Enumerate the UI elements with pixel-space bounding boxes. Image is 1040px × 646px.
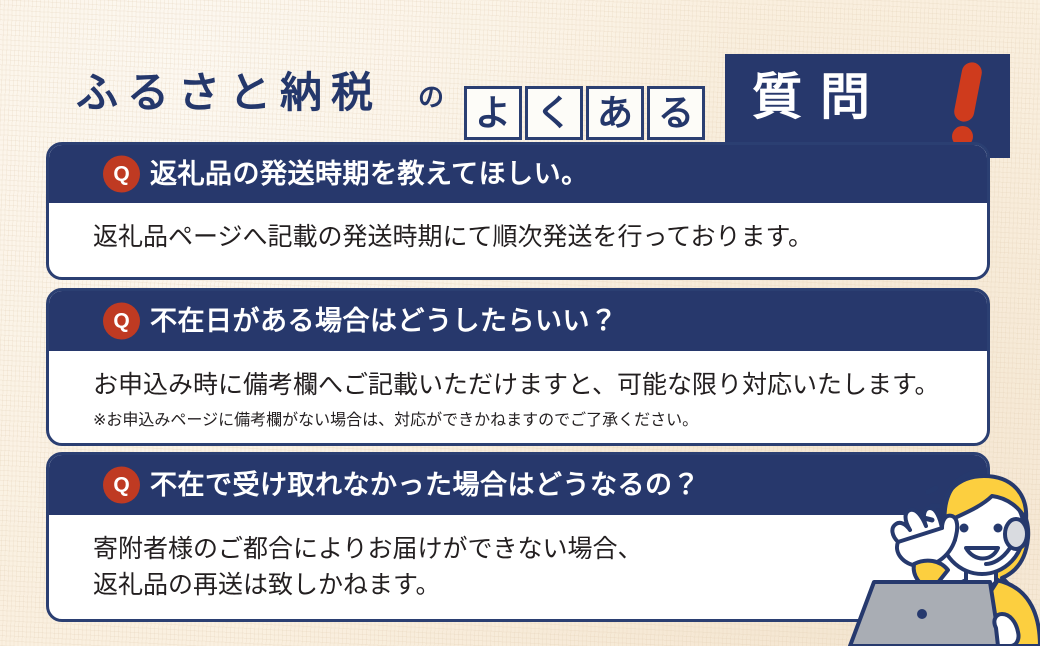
headline: ふるさと納税 の よ く あ る 質問 [0,26,1040,131]
faq-question-text: 不在で受け取れなかった場合はどうなるの？ [150,472,700,499]
headline-plate-word: 質問 [752,72,888,122]
boxed-char-2: く [525,86,583,140]
boxed-char-1: よ [464,86,522,140]
faq-question-header: Q 不在で受け取れなかった場合はどうなるの？ [49,455,987,515]
headline-particle: の [418,84,444,110]
faq-answer-note: ※お申込みページに備考欄がない場合は、対応ができかねますのでご了承ください。 [93,409,987,433]
exclamation-mark-icon [950,62,996,154]
faq-answer-line: 寄附者様のご都合によりお届けができない場合、 [93,532,987,568]
faq-question-text: 返礼品の発送時期を教えてほしい。 [150,161,589,188]
faq-card[interactable]: Q 不在日がある場合はどうしたらいい？ お申込み時に備考欄へご記載いただけますと… [46,288,990,446]
boxed-word-group: よ く あ る [464,86,705,140]
faq-answer-line: お申込み時に備考欄へご記載いただけますと、可能な限り対応いたします。 [93,368,987,404]
headset-earpiece [1005,519,1027,549]
faq-answer-line: 返礼品の再送は致しかねます。 [93,568,987,604]
resting-hand [994,614,1018,646]
boxed-char-4: る [647,86,705,140]
headline-main-text: ふるさと納税 [76,72,382,114]
faq-banner: ふるさと納税 の よ く あ る 質問 Q 返礼品の発送時期を教えてほしい。 返… [0,0,1040,646]
faq-card[interactable]: Q 返礼品の発送時期を教えてほしい。 返礼品ページへ記載の発送時期にて順次発送を… [46,142,990,280]
faq-answer-body: 返礼品ページへ記載の発送時期にて順次発送を行っております。 [49,203,987,256]
question-badge: Q [103,467,140,504]
faq-question-header: Q 不在日がある場合はどうしたらいい？ [49,291,987,351]
question-badge: Q [103,156,140,193]
faq-card[interactable]: Q 不在で受け取れなかった場合はどうなるの？ 寄附者様のご都合によりお届けができ… [46,452,990,622]
faq-answer-body: 寄附者様のご都合によりお届けができない場合、 返礼品の再送は致しかねます。 [49,515,987,603]
boxed-char-3: あ [586,86,644,140]
faq-answer-body: お申込み時に備考欄へご記載いただけますと、可能な限り対応いたします。 ※お申込み… [49,351,987,433]
hair-back [990,492,1028,618]
question-badge: Q [103,303,140,340]
faq-question-header: Q 返礼品の発送時期を教えてほしい。 [49,145,987,203]
eye-right [994,524,1003,533]
faq-question-text: 不在日がある場合はどうしたらいい？ [150,308,618,335]
exclamation-bar [952,61,983,124]
faq-answer-line: 返礼品ページへ記載の発送時期にて順次発送を行っております。 [93,220,987,256]
